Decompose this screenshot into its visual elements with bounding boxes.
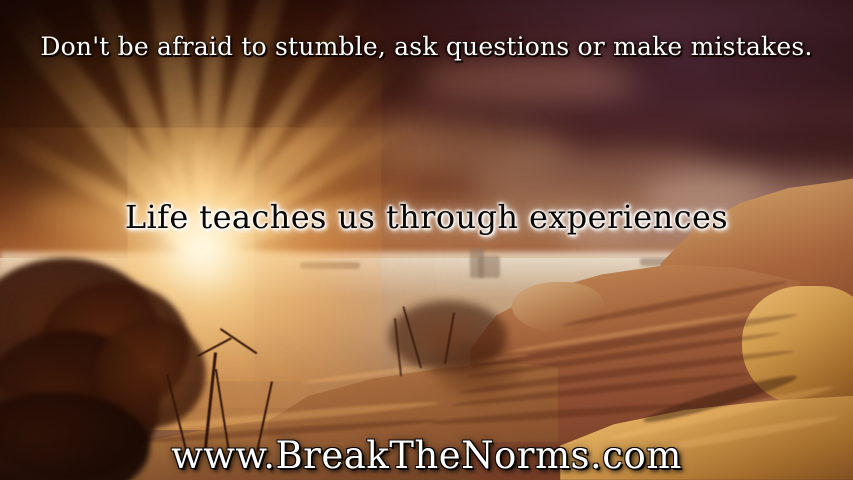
- website-url-text[interactable]: www.BreakTheNorms.com: [0, 434, 853, 477]
- subline-text: Life teaches us through experiences: [0, 198, 853, 236]
- vignette-overlay: [0, 0, 853, 480]
- headline-text: Don't be afraid to stumble, ask question…: [0, 32, 853, 61]
- quote-poster: Don't be afraid to stumble, ask question…: [0, 0, 853, 480]
